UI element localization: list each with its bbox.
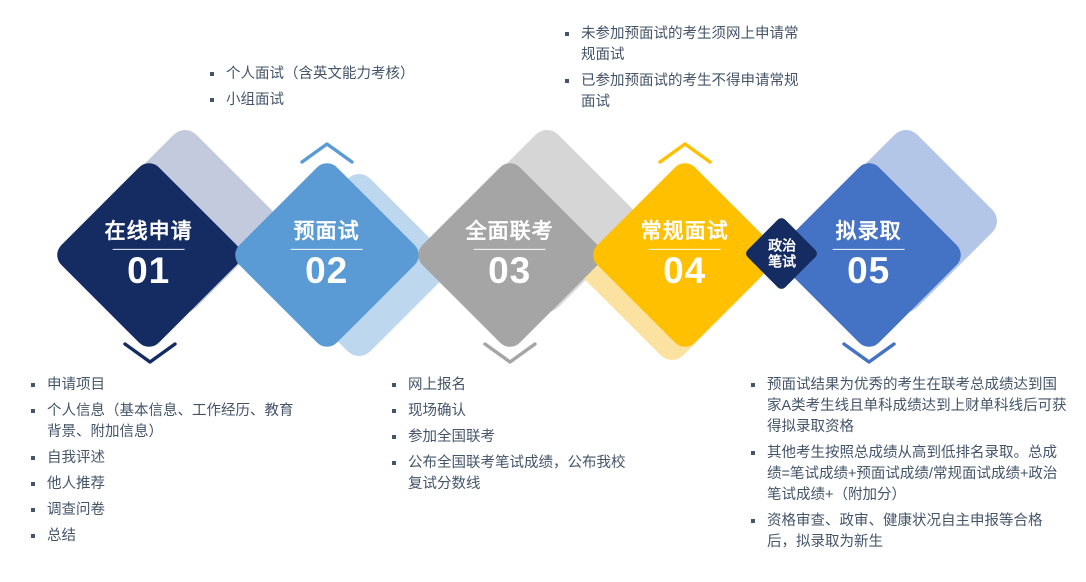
list-item: 小组面试 [207,90,463,111]
callout-step-3-bottom-list: 网上报名 现场确认 参加全国联考 公布全国联考笔试成绩，公布我校复试分数线 [389,375,637,495]
list-item: 公布全国联考笔试成绩，公布我校复试分数线 [389,453,637,495]
list-item: 预面试结果为优秀的考生在联考总成绩达到国家A类考生线且单科成绩达到上财单科线后可… [748,375,1068,438]
step-2-divider [291,249,363,250]
list-item: 申请项目 [28,375,296,396]
list-item: 未参加预面试的考生须网上申请常规面试 [562,24,810,66]
list-item: 他人推荐 [28,474,296,495]
step-3-divider [474,249,546,250]
step-3-number: 03 [441,252,579,291]
political-exam-badge-line2: 笔试 [768,254,796,270]
political-exam-badge-content: 政治 笔试 [768,237,796,269]
step-4-divider [649,249,721,250]
flowchart-diagram: 在线申请 01 预面试 02 全面联考 03 常规面试 04 拟录取 05 [0,0,1086,582]
callout-step-4-top: 未参加预面试的考生须网上申请常规面试 已参加预面试的考生不得申请常规面试 [562,24,810,118]
callout-step-1-bottom-list: 申请项目 个人信息（基本信息、工作经历、教育背景、附加信息） 自我评述 他人推荐… [28,375,296,547]
step-1-number: 01 [80,252,218,291]
callout-step-5-bottom-list: 预面试结果为优秀的考生在联考总成绩达到国家A类考生线且单科成绩达到上财单科线后可… [748,375,1068,553]
step-2-up-chevron-icon [300,141,354,165]
step-2-number: 02 [258,252,396,291]
list-item: 总结 [28,526,296,547]
callout-step-1-bottom: 申请项目 个人信息（基本信息、工作经历、教育背景、附加信息） 自我评述 他人推荐… [28,375,296,552]
list-item: 参加全国联考 [389,427,637,448]
list-item: 已参加预面试的考生不得申请常规面试 [562,71,810,113]
list-item: 调查问卷 [28,500,296,521]
step-5-number: 05 [800,252,938,291]
step-2-label: 预面试 [258,220,396,243]
list-item: 自我评述 [28,448,296,469]
step-3-label: 全面联考 [441,220,579,243]
callout-step-2-top-list: 个人面试（含英文能力考核） 小组面试 [207,64,463,111]
step-2-content: 预面试 02 [258,220,396,291]
step-3-content: 全面联考 03 [441,220,579,291]
step-4-content: 常规面试 04 [616,220,754,291]
list-item: 其他考生按照总成绩从高到低排名录取。总成绩=笔试成绩+预面试成绩/常规面试成绩+… [748,443,1068,506]
callout-step-2-top: 个人面试（含英文能力考核） 小组面试 [207,64,463,116]
list-item: 个人信息（基本信息、工作经历、教育背景、附加信息） [28,401,296,443]
list-item: 资格审查、政审、健康状况自主申报等合格后，拟录取为新生 [748,511,1068,553]
step-5-label: 拟录取 [800,220,938,243]
political-exam-badge-line1: 政治 [768,237,796,253]
callout-step-3-bottom: 网上报名 现场确认 参加全国联考 公布全国联考笔试成绩，公布我校复试分数线 [389,375,637,500]
step-4-up-chevron-icon [658,141,712,165]
callout-step-5-bottom: 预面试结果为优秀的考生在联考总成绩达到国家A类考生线且单科成绩达到上财单科线后可… [748,375,1068,558]
step-1-label: 在线申请 [80,220,218,243]
callout-step-4-top-list: 未参加预面试的考生须网上申请常规面试 已参加预面试的考生不得申请常规面试 [562,24,810,113]
step-1-divider [113,249,185,250]
list-item: 个人面试（含英文能力考核） [207,64,463,85]
step-4-label: 常规面试 [616,220,754,243]
list-item: 网上报名 [389,375,637,396]
step-1-content: 在线申请 01 [80,220,218,291]
step-5-content: 拟录取 05 [800,220,938,291]
step-4-number: 04 [616,252,754,291]
list-item: 现场确认 [389,401,637,422]
step-5-divider [833,249,905,250]
